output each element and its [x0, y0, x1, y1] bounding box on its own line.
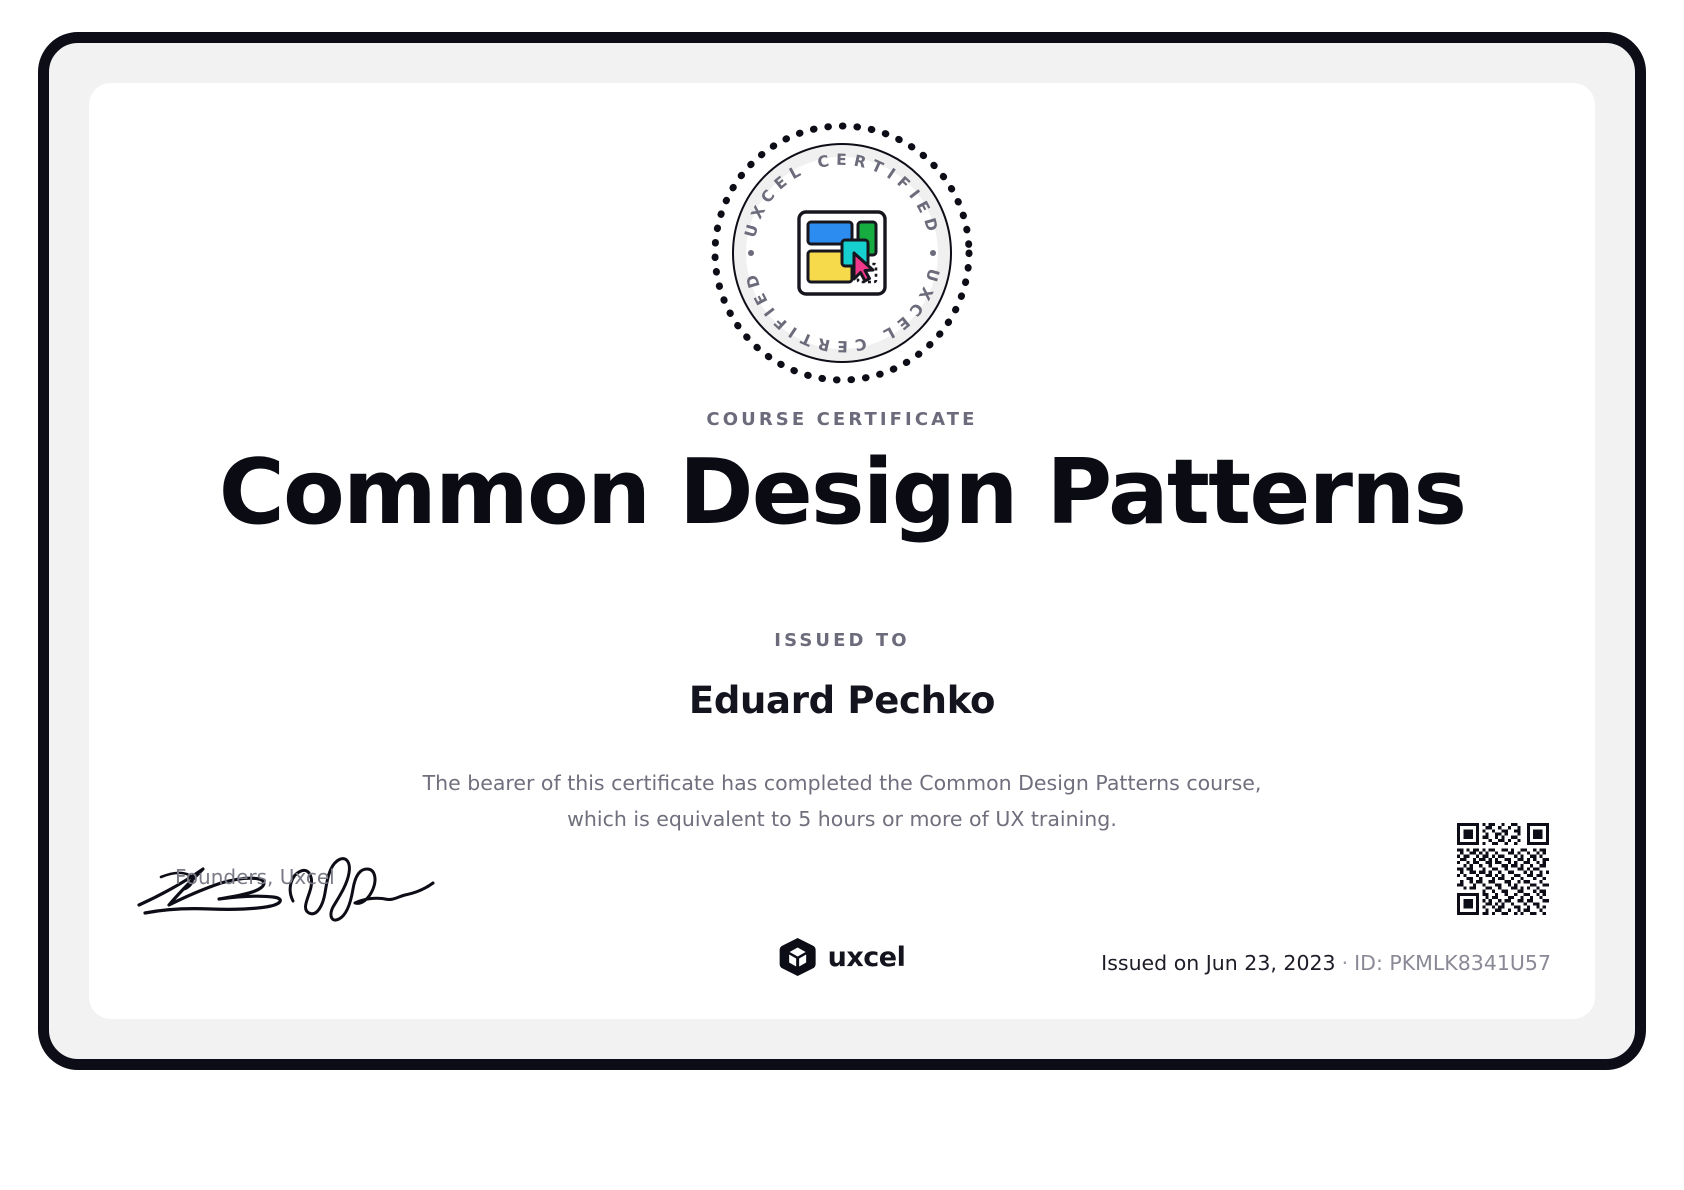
- seal-bullet-right: [930, 250, 936, 256]
- uxcel-wordmark: uxcel: [828, 942, 906, 973]
- eyebrow-issued-to: ISSUED TO: [89, 630, 1595, 651]
- certificate-page: UXCEL CERTIFIED UXCEL CERTIFIED: [0, 0, 1684, 1190]
- certificate-card: UXCEL CERTIFIED UXCEL CERTIFIED: [89, 83, 1595, 1019]
- issue-separator: ·: [1342, 951, 1349, 975]
- qr-matrix: [1457, 823, 1549, 915]
- credential-qr-code[interactable]: [1457, 823, 1549, 915]
- signature-label: Founders, Uxcel: [175, 865, 335, 889]
- issue-details: Issued on Jun 23, 2023·ID: PKMLK8341U57: [1101, 951, 1551, 975]
- credential-id: ID: PKMLK8341U57: [1354, 951, 1551, 975]
- design-patterns-icon: [796, 209, 888, 297]
- recipient-name: Eduard Pechko: [89, 679, 1595, 722]
- seal-bullet-left: [748, 250, 754, 256]
- uxcel-brand: uxcel: [779, 937, 906, 977]
- certification-seal: UXCEL CERTIFIED UXCEL CERTIFIED: [708, 119, 976, 387]
- certificate-description: The bearer of this certificate has compl…: [422, 765, 1262, 838]
- course-title: Common Design Patterns: [89, 445, 1595, 540]
- issued-on-date: Issued on Jun 23, 2023: [1101, 951, 1335, 975]
- certificate-frame: UXCEL CERTIFIED UXCEL CERTIFIED: [38, 32, 1646, 1070]
- eyebrow-course-certificate: COURSE CERTIFICATE: [89, 409, 1595, 430]
- uxcel-logo-icon: [779, 937, 817, 977]
- founder-signatures: Founders, Uxcel: [131, 839, 451, 931]
